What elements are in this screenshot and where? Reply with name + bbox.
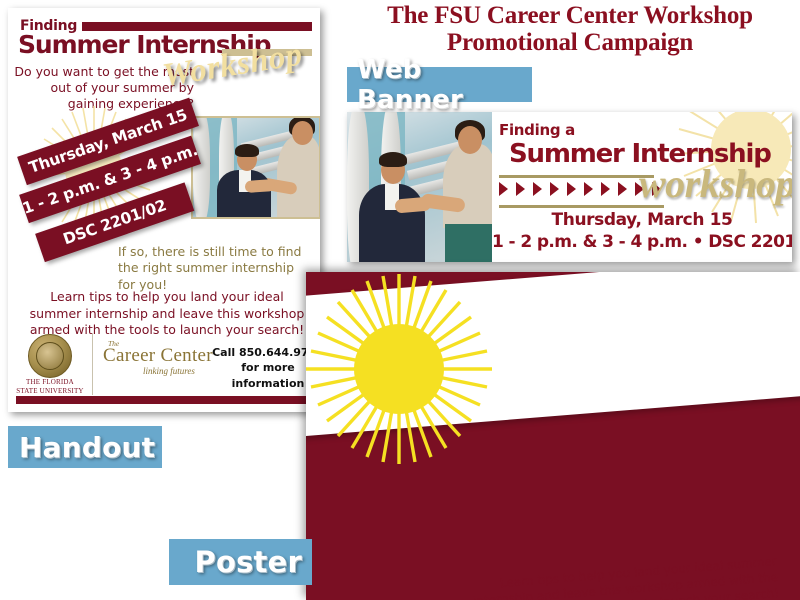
- handout-phone-note: for more information: [204, 360, 320, 391]
- fsu-seal-icon: [28, 334, 72, 378]
- label-handout-text: Handout: [19, 431, 155, 464]
- handout-bottom-bar: [16, 396, 312, 404]
- label-poster-text: Poster: [195, 545, 302, 579]
- banner-handshake-photo: [347, 112, 492, 262]
- label-poster: Poster: [169, 539, 312, 585]
- handout-phone: Call 850.644.9774: [204, 345, 320, 360]
- handout-artwork[interactable]: Finding a Summer Internship Do you want …: [8, 8, 320, 412]
- poster-learn-tips-text: Learn tips to help you land your ideal s…: [457, 554, 780, 600]
- poster-artwork[interactable]: Learn tips to help you land your ideal s…: [306, 272, 800, 600]
- chevron-right-icon: [499, 182, 508, 196]
- chevron-right-icon: [516, 182, 525, 196]
- chevron-right-icon: [550, 182, 559, 196]
- label-handout: Handout: [8, 426, 162, 468]
- handout-contact: Call 850.644.9774 for more information: [204, 345, 320, 391]
- banner-gold-line-top: [499, 175, 654, 178]
- chevron-right-icon: [584, 182, 593, 196]
- banner-workshop-script: workshop: [639, 160, 792, 207]
- page-title: The FSU Career Center Workshop Promotion…: [345, 2, 795, 56]
- footer-divider: [92, 333, 93, 395]
- handout-handshake-photo: [191, 116, 320, 219]
- career-center-wordmark: Career Center: [103, 345, 213, 367]
- handout-footer: THE FLORIDA STATE UNIVERSITY The Career …: [8, 333, 320, 395]
- chevron-right-icon: [618, 182, 627, 196]
- banner-time-location: 1 - 2 p.m. & 3 - 4 p.m. • DSC 2201/02: [492, 232, 792, 252]
- banner-arrow-row: [499, 182, 661, 196]
- fsu-seal-label: THE FLORIDA STATE UNIVERSITY: [16, 378, 84, 397]
- chevron-right-icon: [567, 182, 576, 196]
- label-web-banner: Web Banner: [347, 67, 532, 102]
- career-center-tagline: linking futures: [143, 366, 195, 376]
- page-title-line-1: The FSU Career Center Workshop: [345, 2, 795, 29]
- chevron-right-icon: [601, 182, 610, 196]
- campaign-board: The FSU Career Center Workshop Promotion…: [0, 0, 800, 600]
- banner-finding-a: Finding a: [499, 121, 575, 139]
- web-banner-artwork[interactable]: Finding a Summer Internship workshop Thu…: [347, 112, 792, 262]
- chevron-right-icon: [533, 182, 542, 196]
- handout-if-so-text: If so, there is still time to find the r…: [118, 244, 314, 293]
- poster-sun-icon: [306, 274, 494, 464]
- banner-date: Thursday, March 15: [492, 210, 792, 230]
- page-title-line-2: Promotional Campaign: [345, 29, 795, 56]
- label-web-banner-text: Web Banner: [357, 55, 532, 115]
- handout-learn-tips-text: Learn tips to help you land your ideal s…: [28, 289, 306, 339]
